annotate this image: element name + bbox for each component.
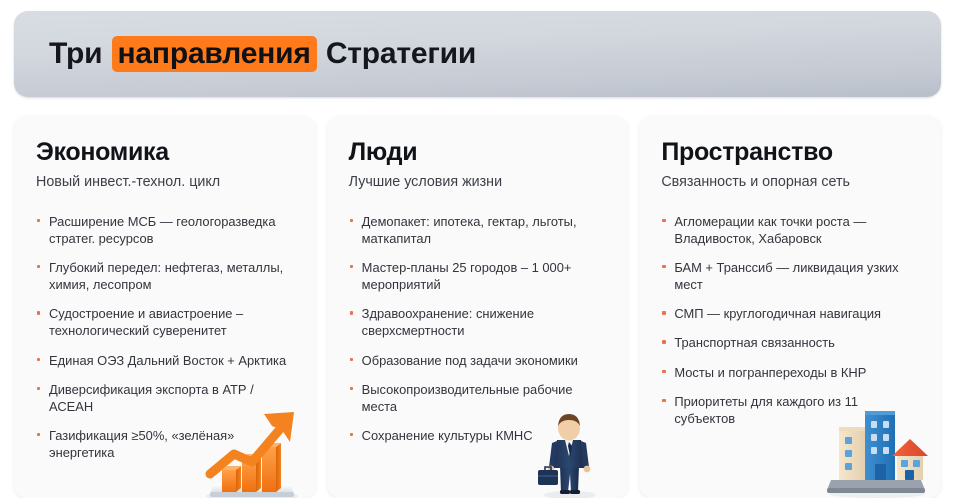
title-part-before: Три bbox=[49, 37, 111, 70]
card-title: Экономика bbox=[36, 138, 296, 167]
card-economy[interactable]: Экономика Новый инвест.-технол. цикл Рас… bbox=[14, 116, 316, 498]
list-item: Высокопроизводительные рабочие места bbox=[349, 381, 609, 415]
card-subtitle: Связанность и опорная сеть bbox=[661, 174, 921, 192]
list-item: Образование под задачи экономики bbox=[349, 352, 609, 369]
card-bullet-list: Агломерации как точки роста — Владивосто… bbox=[661, 213, 921, 427]
list-item: Расширение МСБ — геологоразведка стратег… bbox=[36, 213, 296, 247]
card-subtitle: Лучшие условия жизни bbox=[349, 174, 609, 192]
list-item: Приоритеты для каждого из 11 субъектов bbox=[661, 393, 921, 427]
list-item: Сохранение культуры КМНС bbox=[349, 427, 609, 444]
list-item: Агломерации как точки роста — Владивосто… bbox=[661, 213, 921, 247]
list-item: Мастер-планы 25 городов – 1 000+ меропри… bbox=[349, 259, 609, 293]
list-item: БАМ + Транссиб — ликвидация узких мест bbox=[661, 259, 921, 293]
card-bullet-list: Демопакет: ипотека, гектар, льготы, матк… bbox=[349, 213, 609, 445]
card-subtitle: Новый инвест.-технол. цикл bbox=[36, 174, 296, 192]
card-people[interactable]: Люди Лучшие условия жизни Демопакет: ипо… bbox=[327, 116, 629, 498]
page-title: Три направления Стратегии bbox=[49, 36, 476, 72]
list-item: Мосты и погранпереходы в КНР bbox=[661, 364, 921, 381]
list-item: Транспортная связанность bbox=[661, 334, 921, 351]
list-item: Газификация ≥50%, «зелёная» энергетика bbox=[36, 427, 296, 461]
card-title: Пространство bbox=[661, 138, 921, 167]
header-banner: Три направления Стратегии bbox=[14, 11, 941, 97]
card-title: Люди bbox=[349, 138, 609, 167]
title-part-after: Стратегии bbox=[318, 37, 476, 70]
cards-container: Экономика Новый инвест.-технол. цикл Рас… bbox=[14, 116, 941, 498]
title-highlight: направления bbox=[112, 36, 317, 72]
list-item: Демопакет: ипотека, гектар, льготы, матк… bbox=[349, 213, 609, 247]
list-item: Здравоохранение: снижение сверхсмертност… bbox=[349, 305, 609, 339]
card-space[interactable]: Пространство Связанность и опорная сеть … bbox=[639, 116, 941, 498]
list-item: Единая ОЭЗ Дальний Восток + Арктика bbox=[36, 352, 296, 369]
list-item: Судостроение и авиастроение – технологич… bbox=[36, 305, 296, 339]
list-item: Глубокий передел: нефтегаз, металлы, хим… bbox=[36, 259, 296, 293]
slide: Три направления Стратегии Экономика Новы… bbox=[0, 0, 955, 498]
card-bullet-list: Расширение МСБ — геологоразведка стратег… bbox=[36, 213, 296, 462]
list-item: Диверсификация экспорта в АТР / АСЕАН bbox=[36, 381, 296, 415]
list-item: СМП — круглогодичная навигация bbox=[661, 305, 921, 322]
